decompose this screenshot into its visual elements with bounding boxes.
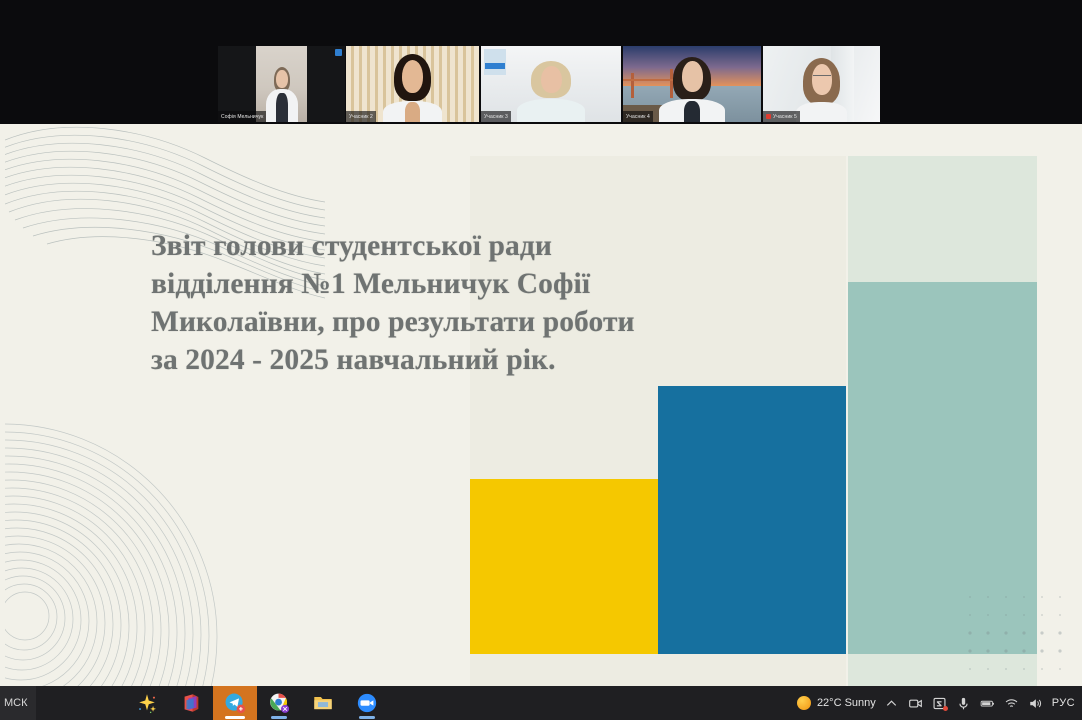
volume-icon — [1028, 696, 1043, 711]
participant-name-3: Учасник 3 — [481, 111, 511, 122]
participant-tile-4[interactable]: Учасник 4 — [623, 46, 761, 122]
slide-canvas: Звіт голови студентської ради відділення… — [5, 126, 1082, 686]
participant-name-label-3: Учасник 3 — [484, 114, 508, 120]
participant-tile-5[interactable]: Учасник 5 — [763, 46, 880, 122]
taskbar-left-region: МСК — [0, 686, 36, 720]
chrome-icon — [268, 692, 290, 714]
notification-badge — [943, 706, 948, 711]
taskbar-item-telegram[interactable] — [213, 686, 257, 720]
tray-microphone-button[interactable] — [955, 686, 972, 720]
desktop-screen: Софія Мельничук Учасник 2 — [0, 0, 1082, 720]
taskbar-item-file-explorer[interactable] — [301, 686, 345, 720]
taskbar-system-tray: 22°C Sunny — [797, 686, 1078, 720]
tile-pin-icon — [335, 49, 342, 56]
taskbar-item-chrome[interactable] — [257, 686, 301, 720]
participant-tile-2[interactable]: Учасник 2 — [346, 46, 479, 122]
copilot-sparkle-icon — [136, 692, 158, 714]
mic-muted-icon — [766, 114, 771, 119]
tray-notification-button[interactable] — [931, 686, 948, 720]
wifi-icon — [1004, 696, 1019, 711]
folder-icon — [312, 692, 334, 714]
slide-title: Звіт голови студентської ради відділення… — [151, 228, 661, 380]
chart-bar-2 — [658, 386, 846, 654]
participant-name-label-2: Учасник 2 — [349, 114, 373, 120]
shared-presentation-slide[interactable]: Звіт голови студентської ради відділення… — [0, 124, 1082, 686]
participant-tile-3[interactable]: Учасник 3 — [481, 46, 621, 122]
sun-icon — [797, 696, 811, 710]
chart-bar-1 — [470, 479, 658, 654]
chart-bar-3 — [848, 282, 1037, 654]
windows-taskbar[interactable]: МСК — [0, 686, 1082, 720]
taskbar-clock-label: МСК — [4, 697, 28, 709]
tray-battery-button[interactable] — [979, 686, 996, 720]
weather-label: 22°C Sunny — [817, 697, 876, 709]
taskbar-item-zoom[interactable] — [345, 686, 389, 720]
participant-name-label-1: Софія Мельничук — [221, 114, 263, 120]
decorative-circle-lines-bottom — [5, 376, 305, 686]
taskbar-app-icons — [125, 686, 389, 720]
telegram-icon — [224, 692, 246, 714]
participant-name-4: Учасник 4 — [623, 111, 653, 122]
battery-icon — [980, 696, 995, 711]
taskbar-item-microsoft-365[interactable] — [169, 686, 213, 720]
participant-tile-1[interactable]: Софія Мельничук — [218, 46, 345, 122]
video-conference-strip: Софія Мельничук Учасник 2 — [0, 0, 1082, 125]
tray-wifi-button[interactable] — [1003, 686, 1020, 720]
tray-camera-button[interactable] — [907, 686, 924, 720]
taskbar-clock[interactable]: МСК — [0, 686, 36, 720]
tray-volume-button[interactable] — [1027, 686, 1044, 720]
language-label: РУС — [1052, 697, 1077, 709]
chevron-up-icon — [884, 696, 899, 711]
weather-widget[interactable]: 22°C Sunny — [797, 696, 876, 710]
tray-expand-button[interactable] — [883, 686, 900, 720]
camera-icon — [908, 696, 923, 711]
tray-language-button[interactable]: РУС — [1051, 686, 1078, 720]
participant-name-5: Учасник 5 — [763, 111, 800, 122]
microsoft-365-icon — [180, 692, 202, 714]
participant-name-2: Учасник 2 — [346, 111, 376, 122]
taskbar-item-copilot[interactable] — [125, 686, 169, 720]
participant-name-label-5: Учасник 5 — [773, 114, 797, 120]
microphone-icon — [956, 696, 971, 711]
participant-name-1: Софія Мельничук — [218, 111, 266, 122]
zoom-icon — [356, 692, 378, 714]
participant-name-label-4: Учасник 4 — [626, 114, 650, 120]
